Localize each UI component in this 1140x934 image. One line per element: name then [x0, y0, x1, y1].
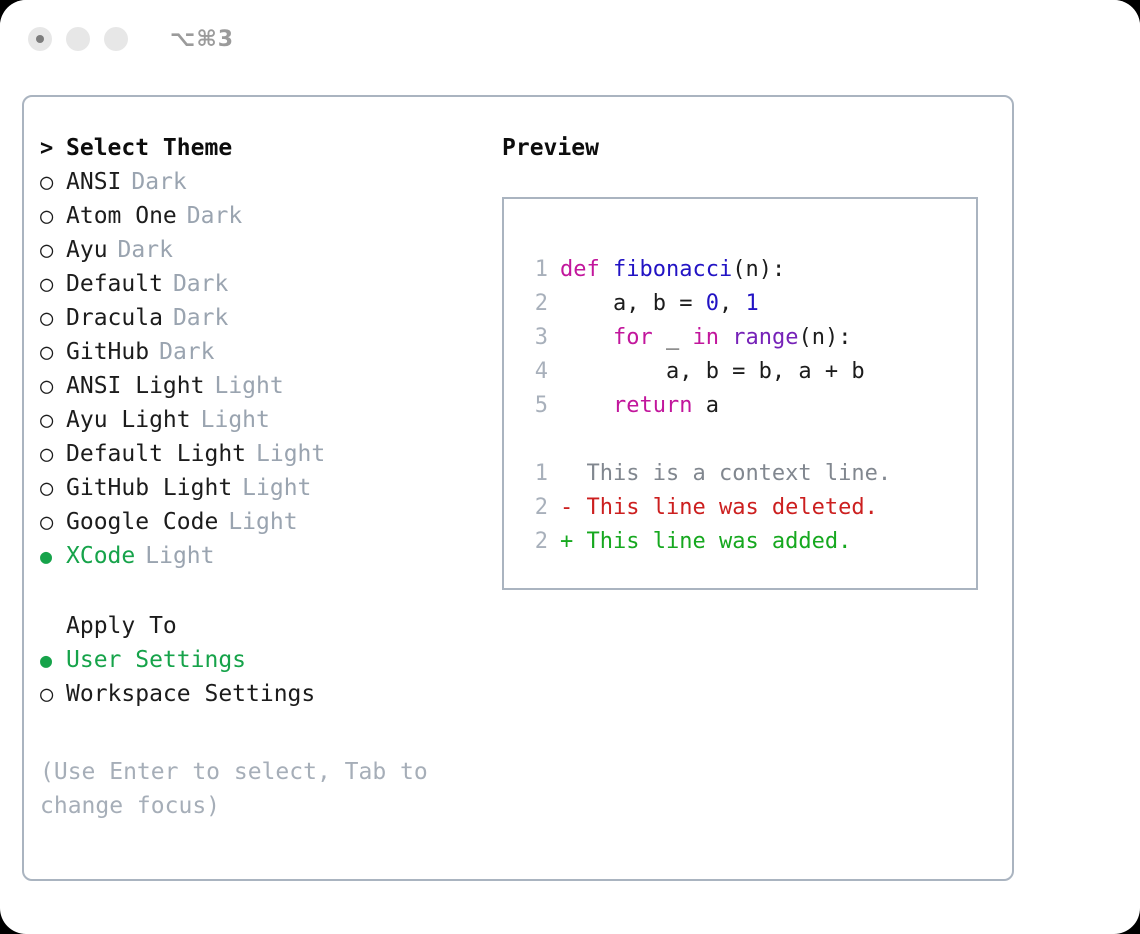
theme-kind-badge: Dark: [173, 305, 228, 331]
diff-gap: [573, 525, 586, 559]
diff-sign: [560, 457, 573, 491]
theme-kind-badge: Light: [256, 441, 325, 467]
theme-name-label: ANSI Light: [66, 373, 204, 399]
code-line: 2 a, b = 0, 1: [520, 287, 865, 321]
code-line-number: 5: [520, 389, 548, 423]
preview-box: 1def fibonacci(n):2 a, b = 0, 13 for _ i…: [502, 197, 978, 590]
code-token: (n):: [732, 257, 785, 282]
diff-line-number: 2: [520, 525, 548, 559]
code-token: 1: [745, 291, 758, 316]
code-line-number: 2: [520, 287, 548, 321]
code-line-number: 1: [520, 253, 548, 287]
code-line-number: 4: [520, 355, 548, 389]
apply-to-options-list: ●User Settings○Workspace Settings: [40, 647, 480, 715]
keyboard-hint-text: (Use Enter to select, Tab to change focu…: [40, 755, 450, 823]
theme-kind-badge: Dark: [173, 271, 228, 297]
theme-option-row[interactable]: ○DraculaDark: [40, 305, 480, 339]
theme-name-label: Default: [66, 271, 163, 297]
theme-name-label: GitHub Light: [66, 475, 232, 501]
code-line: 5 return a: [520, 389, 865, 423]
apply-to-label: Apply To: [66, 613, 177, 639]
code-token: range: [732, 325, 798, 350]
radio-unselected-icon: ○: [40, 682, 66, 707]
code-line-text: a, b = 0, 1: [560, 287, 759, 321]
theme-name-label: Ayu Light: [66, 407, 191, 433]
radio-unselected-icon: ○: [40, 476, 66, 501]
code-token: [560, 393, 613, 418]
theme-name-label: GitHub: [66, 339, 149, 365]
diff-sign: -: [560, 491, 573, 525]
code-token: a, b = b, a + b: [560, 359, 865, 384]
theme-kind-badge: Dark: [187, 203, 242, 229]
keyboard-shortcut-label: ⌥⌘3: [170, 27, 234, 52]
diff-sign: +: [560, 525, 573, 559]
diff-line-text: This line was added.: [587, 525, 852, 559]
theme-option-row[interactable]: ○GitHubDark: [40, 339, 480, 373]
radio-unselected-icon: ○: [40, 510, 66, 535]
code-token: a, b =: [560, 291, 706, 316]
apply-to-option-row[interactable]: ○Workspace Settings: [40, 681, 480, 715]
code-token: a: [692, 393, 719, 418]
diff-line: 2- This line was deleted.: [520, 491, 891, 525]
apply-to-option-label: Workspace Settings: [66, 681, 315, 707]
theme-name-label: Atom One: [66, 203, 177, 229]
code-token: [560, 325, 613, 350]
code-line-text: a, b = b, a + b: [560, 355, 865, 389]
theme-kind-badge: Light: [228, 509, 297, 535]
code-token: return: [613, 393, 692, 418]
select-theme-heading: >Select Theme: [40, 135, 480, 169]
theme-kind-badge: Light: [201, 407, 270, 433]
theme-kind-badge: Light: [214, 373, 283, 399]
code-line: 1def fibonacci(n):: [520, 253, 865, 287]
code-token: for: [613, 325, 653, 350]
code-line: 4 a, b = b, a + b: [520, 355, 865, 389]
theme-option-row[interactable]: ○GitHub LightLight: [40, 475, 480, 509]
code-token: in: [692, 325, 719, 350]
theme-option-row[interactable]: ○Atom OneDark: [40, 203, 480, 237]
window-dot-maximize[interactable]: [104, 27, 128, 51]
radio-selected-icon: ●: [40, 544, 66, 568]
diff-line-text: This is a context line.: [587, 457, 892, 491]
code-token: (n):: [798, 325, 851, 350]
diff-line-text: This line was deleted.: [587, 491, 878, 525]
code-line-text: for _ in range(n):: [560, 321, 851, 355]
radio-unselected-icon: ○: [40, 340, 66, 365]
diff-line-number: 1: [520, 457, 548, 491]
theme-name-label: Default Light: [66, 441, 246, 467]
preview-column: Preview 1def fibonacci(n):2 a, b = 0, 13…: [502, 135, 992, 590]
theme-picker-dialog: >Select Theme ○ANSIDark○Atom OneDark○Ayu…: [22, 95, 1014, 881]
radio-unselected-icon: ○: [40, 374, 66, 399]
code-token: _: [653, 325, 693, 350]
window-dot-minimize[interactable]: [66, 27, 90, 51]
theme-kind-badge: Dark: [159, 339, 214, 365]
diff-line: 2+ This line was added.: [520, 525, 891, 559]
diff-gap: [573, 491, 586, 525]
radio-unselected-icon: ○: [40, 238, 66, 263]
theme-name-label: ANSI: [66, 169, 121, 195]
radio-unselected-icon: ○: [40, 204, 66, 229]
app-window: ⌥⌘3 >Select Theme ○ANSIDark○Atom OneDark…: [0, 0, 1140, 934]
prompt-caret-icon: >: [40, 136, 66, 161]
theme-name-label: Dracula: [66, 305, 163, 331]
theme-option-row[interactable]: ○Ayu LightLight: [40, 407, 480, 441]
diff-sample: 1 This is a context line.2- This line wa…: [520, 457, 891, 559]
code-token: def: [560, 257, 613, 282]
code-sample: 1def fibonacci(n):2 a, b = 0, 13 for _ i…: [520, 253, 865, 423]
code-line: 3 for _ in range(n):: [520, 321, 865, 355]
theme-kind-badge: Light: [242, 475, 311, 501]
window-dot-close[interactable]: [28, 27, 52, 51]
theme-name-label: XCode: [66, 543, 135, 569]
theme-option-row[interactable]: ○Google CodeLight: [40, 509, 480, 543]
theme-option-row[interactable]: ○DefaultDark: [40, 271, 480, 305]
diff-gap: [573, 457, 586, 491]
theme-option-row[interactable]: ○AyuDark: [40, 237, 480, 271]
theme-option-row[interactable]: ○ANSI LightLight: [40, 373, 480, 407]
radio-unselected-icon: ○: [40, 408, 66, 433]
code-line-text: def fibonacci(n):: [560, 253, 785, 287]
window-controls: [28, 27, 128, 51]
radio-unselected-icon: ○: [40, 306, 66, 331]
preview-heading: Preview: [502, 135, 992, 169]
code-line-number: 3: [520, 321, 548, 355]
theme-option-row[interactable]: ○ANSIDark: [40, 169, 480, 203]
code-token: [719, 325, 732, 350]
apply-to-option-row[interactable]: ●User Settings: [40, 647, 480, 681]
theme-name-label: Google Code: [66, 509, 218, 535]
theme-options-list: ○ANSIDark○Atom OneDark○AyuDark○DefaultDa…: [40, 169, 480, 577]
theme-kind-badge: Light: [145, 543, 214, 569]
radio-unselected-icon: ○: [40, 272, 66, 297]
code-token: ,: [719, 291, 746, 316]
diff-line: 1 This is a context line.: [520, 457, 891, 491]
radio-unselected-icon: ○: [40, 170, 66, 195]
theme-kind-badge: Dark: [131, 169, 186, 195]
theme-name-label: Ayu: [66, 237, 108, 263]
apply-to-section: ○Apply To ●User Settings○Workspace Setti…: [40, 613, 480, 715]
code-token: fibonacci: [613, 257, 732, 282]
code-token: 0: [706, 291, 719, 316]
radio-unselected-icon: ○: [40, 442, 66, 467]
apply-to-option-label: User Settings: [66, 647, 246, 673]
spacer-icon: ○: [40, 614, 66, 639]
theme-option-row[interactable]: ●XCodeLight: [40, 543, 480, 577]
diff-line-number: 2: [520, 491, 548, 525]
select-theme-label: Select Theme: [66, 135, 232, 161]
theme-kind-badge: Dark: [118, 237, 173, 263]
code-line-text: return a: [560, 389, 719, 423]
radio-selected-icon: ●: [40, 648, 66, 672]
theme-option-row[interactable]: ○Default LightLight: [40, 441, 480, 475]
theme-list-column: >Select Theme ○ANSIDark○Atom OneDark○Ayu…: [40, 135, 480, 823]
title-bar: ⌥⌘3: [0, 0, 1140, 78]
apply-to-heading: ○Apply To: [40, 613, 480, 647]
